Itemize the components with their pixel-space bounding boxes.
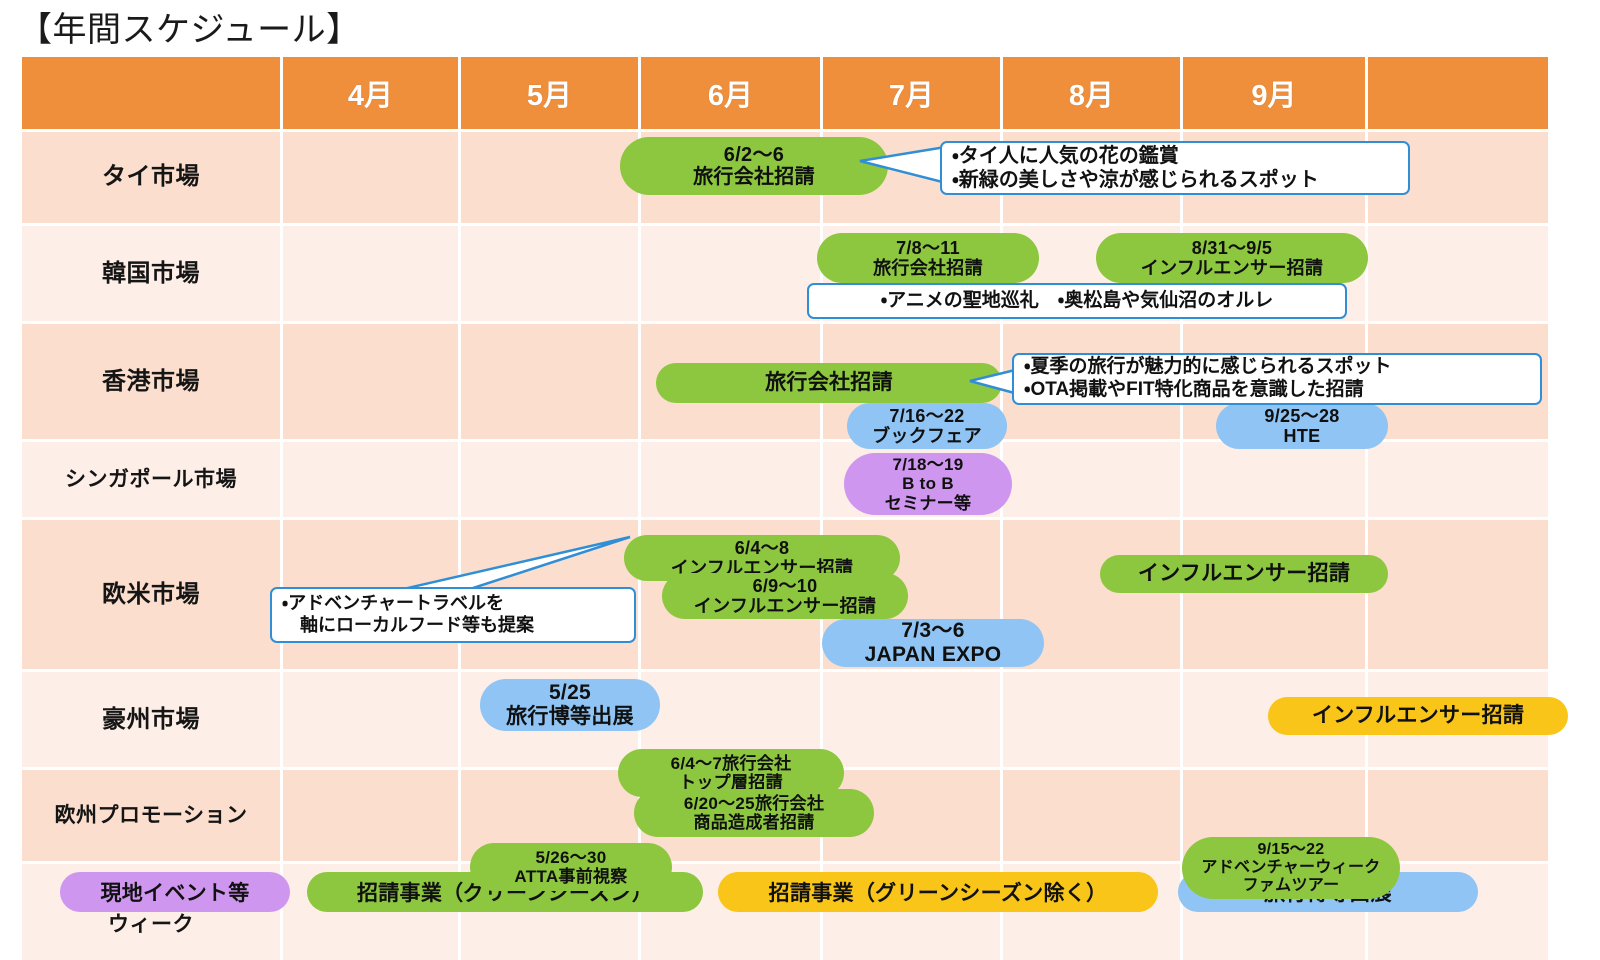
page-title: 【年間スケジュール】 bbox=[18, 2, 361, 51]
legend-item-invitation-non-green-season[interactable]: 招請事業（グリーンシーズン除く） bbox=[718, 872, 1158, 912]
header-cell-jun: 6月 bbox=[641, 57, 820, 129]
bar-hongkong-travel-agency[interactable]: 旅行会社招請 bbox=[656, 363, 1002, 403]
bar-hongkong-bookfair[interactable]: 7/16〜22 ブックフェア bbox=[847, 403, 1007, 449]
bar-korea-travel-agency[interactable]: 7/8〜11 旅行会社招請 bbox=[817, 233, 1039, 283]
table-header-row: 4月 5月 6月 7月 8月 9月 bbox=[22, 57, 1548, 129]
bar-advweek-famtour[interactable]: 9/15〜22 アドベンチャーウィーク ファムツアー bbox=[1182, 837, 1400, 899]
header-cell-label bbox=[22, 57, 280, 129]
row-label-eupromo: 欧州プロモーション bbox=[22, 769, 280, 863]
bar-eupromo-product-maker[interactable]: 6/20〜25旅行会社 商品造成者招請 bbox=[634, 789, 874, 837]
header-cell-jul: 7月 bbox=[823, 57, 1000, 129]
header-divider bbox=[458, 57, 461, 129]
callout-euus: ・アドベンチャートラベルを 軸にローカルフード等も提案 bbox=[270, 587, 636, 643]
header-divider bbox=[1000, 57, 1003, 129]
bar-euus-influencer-aug[interactable]: インフルエンサー招請 bbox=[1100, 555, 1388, 593]
bar-thai-travel-agency[interactable]: 6/2〜6 旅行会社招請 bbox=[620, 137, 888, 195]
bar-hongkong-hte[interactable]: 9/25〜28 HTE bbox=[1216, 403, 1388, 449]
header-cell-apr: 4月 bbox=[283, 57, 458, 129]
callout-hongkong: ・夏季の旅行が魅力的に感じられるスポット ・OTA掲載やFIT特化商品を意識した… bbox=[1012, 353, 1542, 405]
legend-item-local-event[interactable]: 現地イベント等 bbox=[60, 872, 290, 912]
callout-thai: ・タイ人に人気の花の鑑賞 ・新緑の美しさや涼が感じられるスポット bbox=[940, 141, 1410, 195]
header-cell-may: 5月 bbox=[461, 57, 638, 129]
annual-schedule-table: 4月 5月 6月 7月 8月 9月 タイ市場 韓国市場 香港市場 シンガポール市… bbox=[22, 57, 1548, 862]
bar-singapore-btob-seminar[interactable]: 7/18〜19 B to B セミナー等 bbox=[844, 453, 1012, 515]
header-divider bbox=[1365, 57, 1368, 129]
row-label-thai: タイ市場 bbox=[22, 129, 280, 225]
bar-advweek-atta-inspection[interactable]: 5/26〜30 ATTA事前視察 bbox=[470, 843, 672, 891]
header-divider bbox=[280, 57, 283, 129]
header-divider bbox=[820, 57, 823, 129]
bar-australia-influencer[interactable]: インフルエンサー招請 bbox=[1268, 697, 1568, 735]
callout-korea: ・アニメの聖地巡礼 ・奥松島や気仙沼のオルレ bbox=[807, 283, 1347, 319]
header-cell-sep: 9月 bbox=[1183, 57, 1365, 129]
bar-euus-influencer-jun9[interactable]: 6/9〜10 インフルエンサー招請 bbox=[662, 573, 908, 619]
row-label-singapore: シンガポール市場 bbox=[22, 441, 280, 519]
header-divider bbox=[638, 57, 641, 129]
header-cell-extra bbox=[1368, 57, 1548, 129]
row-label-hongkong: 香港市場 bbox=[22, 323, 280, 441]
row-label-euus: 欧米市場 bbox=[22, 519, 280, 671]
bar-korea-influencer[interactable]: 8/31〜9/5 インフルエンサー招請 bbox=[1096, 233, 1368, 283]
bar-euus-japan-expo[interactable]: 7/3〜6 JAPAN EXPO bbox=[822, 619, 1044, 667]
bar-australia-travel-expo[interactable]: 5/25 旅行博等出展 bbox=[480, 679, 660, 731]
header-divider bbox=[1180, 57, 1183, 129]
row-label-korea: 韓国市場 bbox=[22, 225, 280, 323]
row-label-australia: 豪州市場 bbox=[22, 671, 280, 769]
header-cell-aug: 8月 bbox=[1003, 57, 1180, 129]
